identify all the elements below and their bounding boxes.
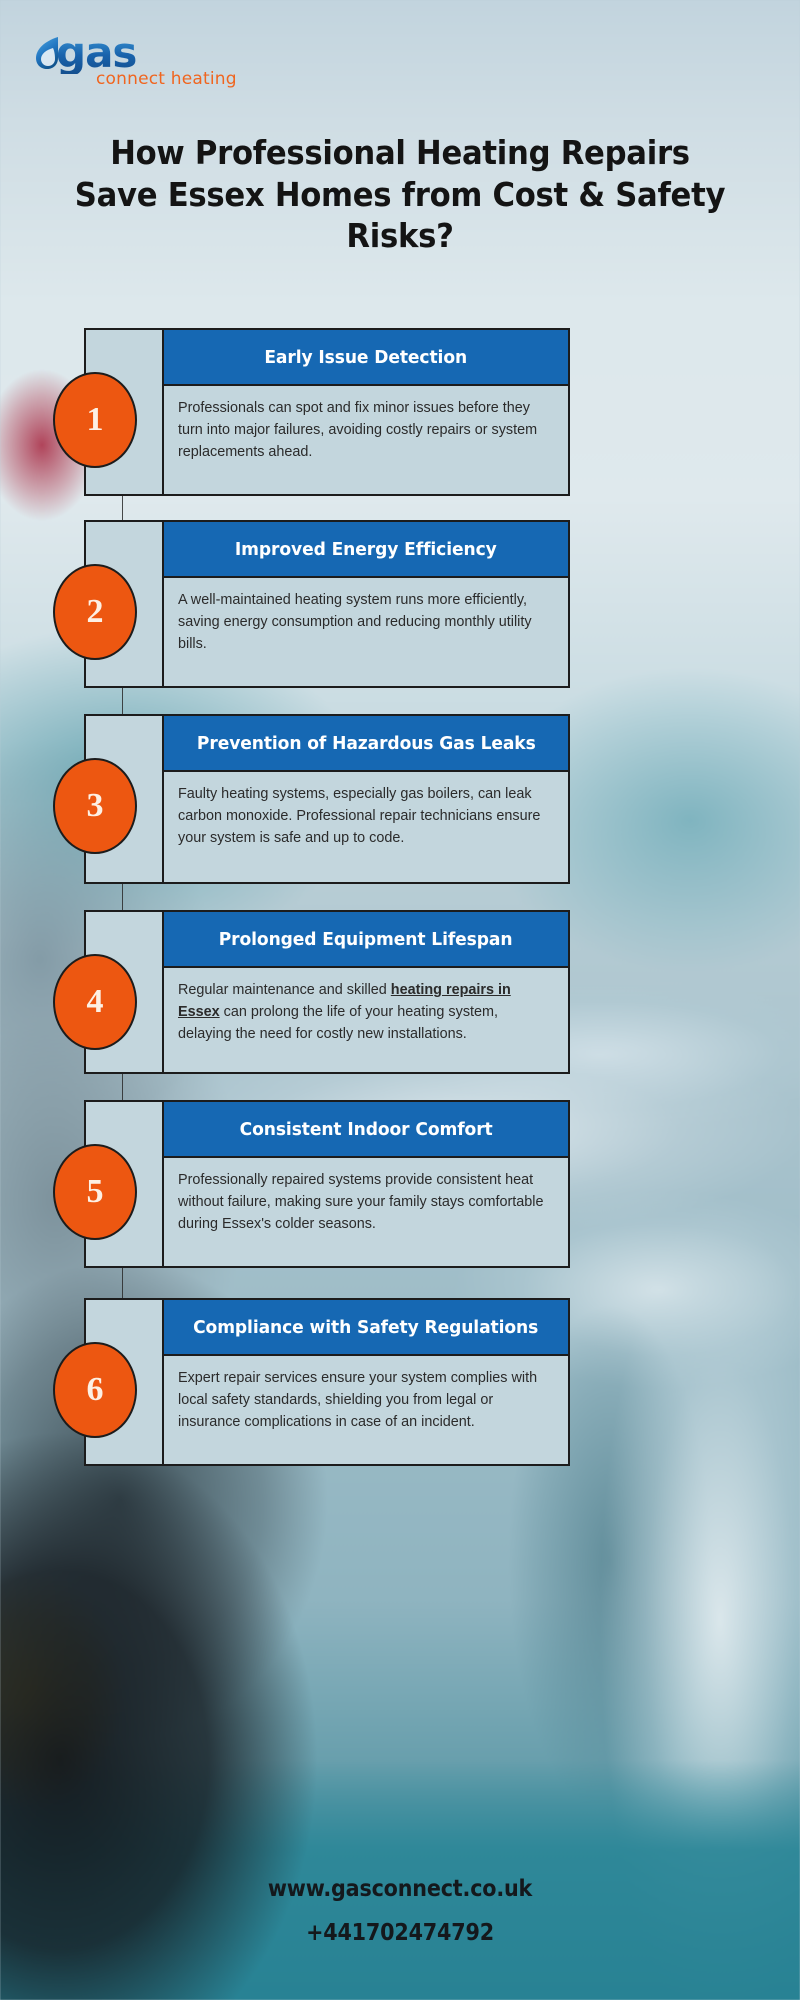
card-body-text: Professionally repaired systems provide … <box>164 1158 568 1266</box>
card-heading: Prevention of Hazardous Gas Leaks <box>164 716 568 772</box>
card-heading: Early Issue Detection <box>164 330 568 386</box>
card-number-column: 6 <box>86 1300 164 1464</box>
card-number-column: 2 <box>86 522 164 686</box>
footer-phone[interactable]: +441702474792 <box>40 1920 760 1946</box>
card-content: Prolonged Equipment Lifespan Regular mai… <box>164 912 568 1072</box>
card-heading: Consistent Indoor Comfort <box>164 1102 568 1158</box>
card-body-suffix: can prolong the life of your heating sys… <box>178 1004 498 1042</box>
step-number-badge: 1 <box>53 372 137 468</box>
card-body-text: Regular maintenance and skilled heating … <box>164 968 568 1072</box>
card-heading-text: Compliance with Safety Regulations <box>193 1317 538 1338</box>
card-number-column: 5 <box>86 1102 164 1266</box>
card-body-prefix: Regular maintenance and skilled <box>178 982 391 998</box>
footer: www.gasconnect.co.uk +441702474792 <box>0 1876 800 1946</box>
card-content: Prevention of Hazardous Gas Leaks Faulty… <box>164 716 568 882</box>
footer-website[interactable]: www.gasconnect.co.uk <box>40 1876 760 1902</box>
card-body-text: Faulty heating systems, especially gas b… <box>164 772 568 882</box>
list-item[interactable]: 2 Improved Energy Efficiency A well-main… <box>84 520 570 688</box>
step-number-badge: 5 <box>53 1144 137 1240</box>
card-content: Consistent Indoor Comfort Professionally… <box>164 1102 568 1266</box>
step-number-badge: 4 <box>53 954 137 1050</box>
card-content: Compliance with Safety Regulations Exper… <box>164 1300 568 1464</box>
infographic-page: gas connect heating How Professional Hea… <box>0 0 800 2000</box>
page-title: How Professional Heating Repairs Save Es… <box>65 132 735 257</box>
step-number-badge: 3 <box>53 758 137 854</box>
list-item[interactable]: 1 Early Issue Detection Professionals ca… <box>84 328 570 496</box>
timeline-connector-line <box>122 328 123 1466</box>
card-number-column: 4 <box>86 912 164 1072</box>
card-number-column: 3 <box>86 716 164 882</box>
card-number-column: 1 <box>86 330 164 494</box>
step-number-badge: 2 <box>53 564 137 660</box>
card-body-text: A well-maintained heating system runs mo… <box>164 578 568 686</box>
card-content: Early Issue Detection Professionals can … <box>164 330 568 494</box>
list-item[interactable]: 6 Compliance with Safety Regulations Exp… <box>84 1298 570 1466</box>
card-content: Improved Energy Efficiency A well-mainta… <box>164 522 568 686</box>
card-heading-text: Prolonged Equipment Lifespan <box>219 929 513 950</box>
step-number-badge: 6 <box>53 1342 137 1438</box>
list-item[interactable]: 4 Prolonged Equipment Lifespan Regular m… <box>84 910 570 1074</box>
list-item[interactable]: 3 Prevention of Hazardous Gas Leaks Faul… <box>84 714 570 884</box>
brand-logo[interactable]: gas connect heating <box>34 32 244 94</box>
card-heading: Compliance with Safety Regulations <box>164 1300 568 1356</box>
card-heading: Improved Energy Efficiency <box>164 522 568 578</box>
list-item[interactable]: 5 Consistent Indoor Comfort Professional… <box>84 1100 570 1268</box>
card-heading-text: Early Issue Detection <box>265 347 468 368</box>
card-heading: Prolonged Equipment Lifespan <box>164 912 568 968</box>
card-body-text: Expert repair services ensure your syste… <box>164 1356 568 1464</box>
logo-tagline: connect heating <box>96 71 237 88</box>
logo-wordmark: gas <box>56 32 136 74</box>
card-heading-text: Consistent Indoor Comfort <box>240 1119 493 1140</box>
card-heading-text: Improved Energy Efficiency <box>235 539 497 560</box>
card-body-text: Professionals can spot and fix minor iss… <box>164 386 568 494</box>
card-heading-text: Prevention of Hazardous Gas Leaks <box>197 733 536 754</box>
